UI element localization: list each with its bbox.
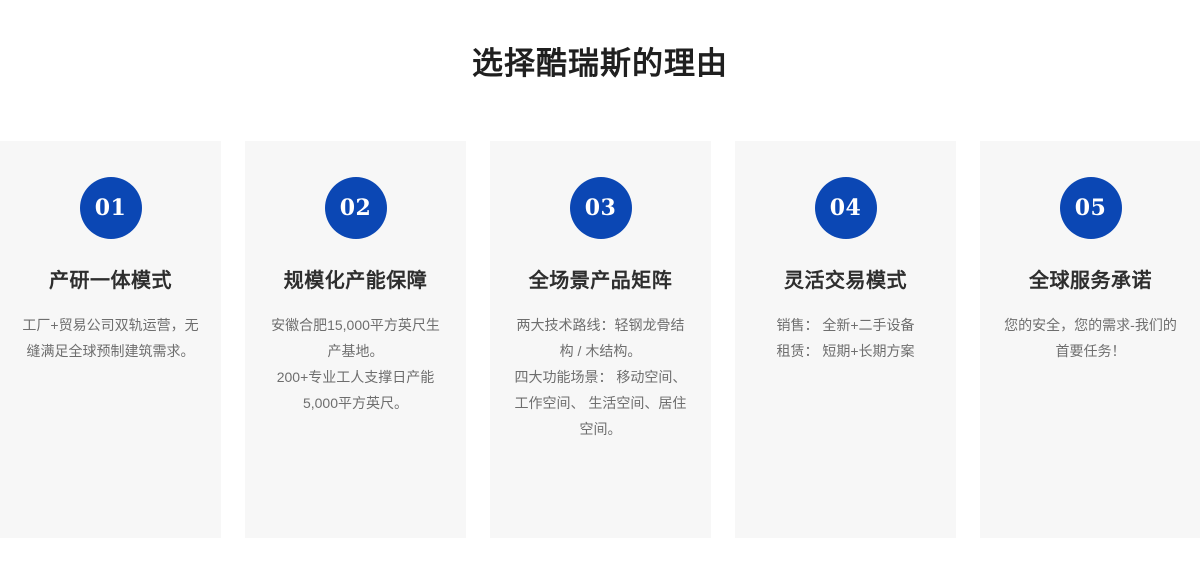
badge-circle: 04 xyxy=(815,177,877,239)
card-title: 全球服务承诺 xyxy=(1029,268,1152,294)
card-title: 全场景产品矩阵 xyxy=(529,268,673,294)
card-description: 您的安全，您的需求-我们的首要任务！ xyxy=(1002,312,1180,364)
page-title: 选择酷瑞斯的理由 xyxy=(0,42,1200,86)
badge-circle: 05 xyxy=(1060,177,1122,239)
badge-number: 01 xyxy=(95,197,127,219)
reason-card[interactable]: 03 全场景产品矩阵 两大技术路线：轻钢龙骨结构 / 木结构。 四大功能场景： … xyxy=(490,141,711,538)
reason-card[interactable]: 05 全球服务承诺 您的安全，您的需求-我们的首要任务！ xyxy=(980,141,1200,538)
reason-card[interactable]: 01 产研一体模式 工厂+贸易公司双轨运营，无缝满足全球预制建筑需求。 xyxy=(0,141,221,538)
card-description: 两大技术路线：轻钢龙骨结构 / 木结构。 四大功能场景： 移动空间、 工作空间、… xyxy=(512,312,690,442)
badge-circle: 02 xyxy=(325,177,387,239)
card-title: 规模化产能保障 xyxy=(284,268,428,294)
card-description: 工厂+贸易公司双轨运营，无缝满足全球预制建筑需求。 xyxy=(22,312,200,364)
reasons-card-row: 01 产研一体模式 工厂+贸易公司双轨运营，无缝满足全球预制建筑需求。 02 规… xyxy=(0,141,1200,538)
reason-card[interactable]: 02 规模化产能保障 安徽合肥15,000平方英尺生产基地。 200+专业工人支… xyxy=(245,141,466,538)
card-description: 安徽合肥15,000平方英尺生产基地。 200+专业工人支撑日产能5,000平方… xyxy=(267,312,445,416)
reason-card[interactable]: 04 灵活交易模式 销售： 全新+二手设备 租赁： 短期+长期方案 xyxy=(735,141,956,538)
card-description: 销售： 全新+二手设备 租赁： 短期+长期方案 xyxy=(757,312,935,364)
badge-circle: 03 xyxy=(570,177,632,239)
badge-number: 04 xyxy=(830,197,862,219)
card-title: 产研一体模式 xyxy=(49,268,172,294)
badge-number: 02 xyxy=(340,197,372,219)
badge-number: 03 xyxy=(585,197,617,219)
badge-circle: 01 xyxy=(80,177,142,239)
badge-number: 05 xyxy=(1075,197,1107,219)
card-title: 灵活交易模式 xyxy=(784,268,907,294)
